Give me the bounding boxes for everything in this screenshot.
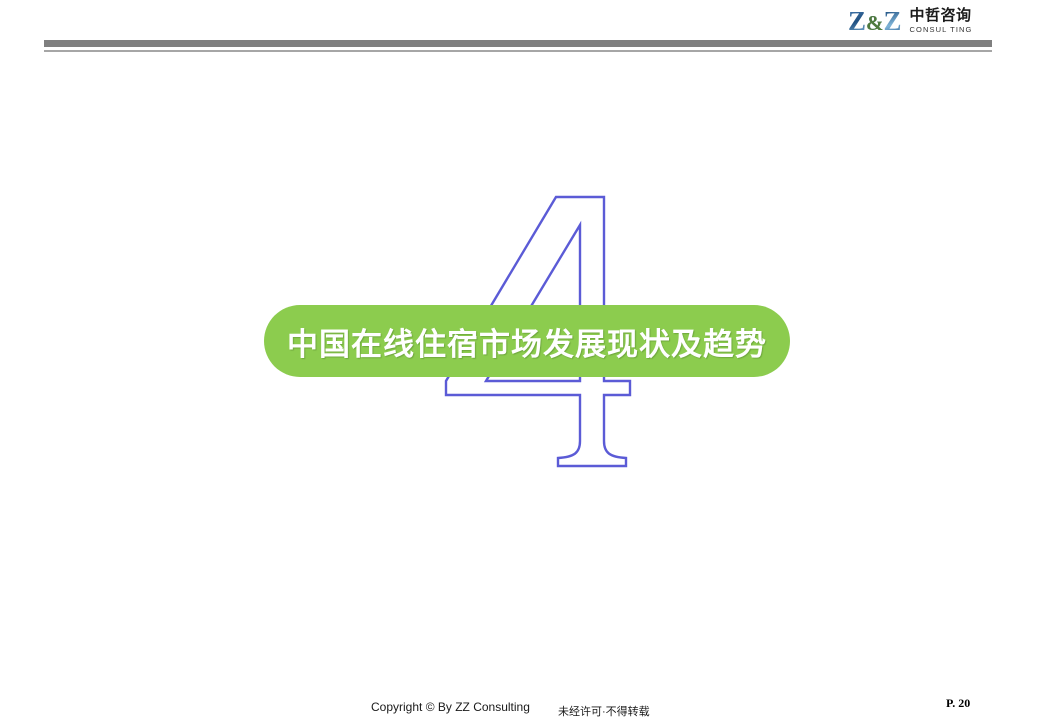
slide-canvas: Z&Z 中哲咨询 CONSUL TING 中国在线住宿市场发展现状及趋势 Cop… [0, 0, 1040, 720]
footer-page-number: P. 20 [946, 696, 970, 711]
footer-copyright: Copyright © By ZZ Consulting [371, 700, 530, 714]
logo-letter-right: Z [884, 6, 902, 36]
logo-company-name-en: CONSUL TING [910, 26, 973, 34]
logo-letter-left: Z [848, 6, 866, 36]
footer-notice: 未经许可·不得转载 [558, 703, 650, 719]
company-logo: Z&Z 中哲咨询 CONSUL TING [848, 4, 996, 38]
header-divider-thick [44, 40, 992, 47]
header-divider-thin [44, 50, 992, 52]
logo-wordmark: Z&Z [848, 8, 902, 35]
logo-company-name-cn: 中哲咨询 [910, 8, 973, 23]
logo-ampersand: & [866, 11, 884, 35]
section-title-banner: 中国在线住宿市场发展现状及趋势 [264, 305, 790, 377]
section-title-text: 中国在线住宿市场发展现状及趋势 [287, 319, 767, 364]
logo-company-name: 中哲咨询 CONSUL TING [910, 8, 973, 34]
